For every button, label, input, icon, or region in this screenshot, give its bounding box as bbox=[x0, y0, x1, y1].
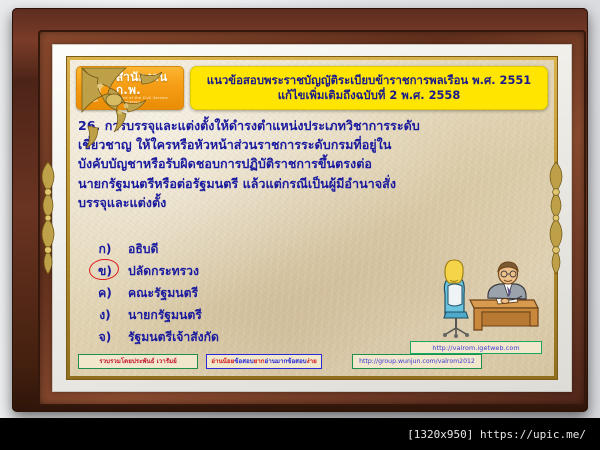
slogan-part-3: ยาก bbox=[254, 356, 265, 366]
image-host-watermark: [1320x950] https://upic.me/ bbox=[0, 418, 600, 450]
header: สำนักงาน ก.พ. Office of the Civil Servic… bbox=[76, 66, 548, 110]
picture-frame-outer: สำนักงาน ก.พ. Office of the Civil Servic… bbox=[12, 8, 588, 412]
choice-key: จ) bbox=[92, 328, 118, 347]
credit-badge: รวบรวมโดยประพันธ์ เวารัมย์ bbox=[78, 354, 198, 369]
title-line-2: แก้ไขเพิ่มเติมถึงฉบับที่ 2 พ.ศ. 2558 bbox=[278, 88, 461, 103]
question-text-block: 26. การบรรจุและแต่งตั้งให้ดำรงตำแหน่งประ… bbox=[78, 116, 544, 212]
choice-key: ข) bbox=[92, 262, 118, 281]
ocsc-logo: สำนักงาน ก.พ. Office of the Civil Servic… bbox=[76, 66, 184, 110]
choice-label: นายกรัฐมนตรี bbox=[128, 306, 202, 325]
group-url-text: http://group.wunjun.com/valrom2012 bbox=[359, 358, 475, 365]
parchment-content-area: สำนักงาน ก.พ. Office of the Civil Servic… bbox=[70, 60, 554, 376]
question-line: 26. การบรรจุและแต่งตั้งให้ดำรงตำแหน่งประ… bbox=[78, 116, 544, 135]
slogan-part-4: อ่านมาก bbox=[265, 356, 288, 366]
slogan-part-6: ง่าย bbox=[307, 356, 317, 366]
slogan-badge: อ่านน้อยข้อสอบยาก อ่านมากข้อสอบง่าย bbox=[206, 354, 322, 369]
site-url-text: http://valrom.igetweb.com bbox=[432, 344, 519, 352]
slogan-part-1: อ่านน้อย bbox=[211, 356, 234, 366]
choice-option-kho[interactable]: ข) ปลัดกระทรวง bbox=[92, 260, 392, 282]
slogan-part-2: ข้อสอบ bbox=[234, 356, 253, 366]
job-interview-cartoon-icon bbox=[392, 256, 542, 342]
slogan-part-5: ข้อสอบ bbox=[287, 356, 306, 366]
ocsc-emblem-icon bbox=[81, 71, 105, 105]
choice-key: ง) bbox=[92, 306, 118, 325]
choice-option-cho[interactable]: จ) รัฐมนตรีเจ้าสังกัด bbox=[92, 326, 392, 348]
choice-label: อธิบดี bbox=[128, 240, 158, 259]
logo-english-name: Office of the Civil Service Commission bbox=[116, 97, 184, 105]
title-line-1: แนวข้อสอบพระราชบัญญัติระเบียบข้าราชการพล… bbox=[207, 73, 531, 88]
logo-text-group: สำนักงาน ก.พ. Office of the Civil Servic… bbox=[116, 71, 184, 105]
question-line: บังคับบัญชาหรือรับผิดชอบการปฏิบัติราชการ… bbox=[78, 154, 544, 173]
question-line: นายกรัฐมนตรีหรือต่อรัฐมนตรี แล้วแต่กรณีเ… bbox=[78, 174, 544, 193]
choice-option-ngo[interactable]: ง) นายกรัฐมนตรี bbox=[92, 304, 392, 326]
logo-thai-name: สำนักงาน ก.พ. bbox=[116, 71, 184, 96]
choice-label: รัฐมนตรีเจ้าสังกัด bbox=[128, 328, 219, 347]
credit-text: รวบรวมโดยประพันธ์ เวารัมย์ bbox=[99, 356, 176, 366]
choice-key: ค) bbox=[92, 284, 118, 303]
group-url-badge[interactable]: http://group.wunjun.com/valrom2012 bbox=[352, 354, 482, 369]
logo-divider bbox=[110, 75, 111, 101]
choice-option-kho-khwai[interactable]: ค) คณะรัฐมนตรี bbox=[92, 282, 392, 304]
title-banner: แนวข้อสอบพระราชบัญญัติระเบียบข้าราชการพล… bbox=[190, 66, 548, 110]
question-line: เชี่ยวชาญ ให้ใครหรือหัวหน้าส่วนราชการระด… bbox=[78, 135, 544, 154]
choice-label: ปลัดกระทรวง bbox=[128, 262, 199, 281]
answer-choices-list: ก) อธิบดี ข) ปลัดกระทรวง ค) คณะรัฐมนตรี … bbox=[92, 238, 392, 348]
screenshot-root: สำนักงาน ก.พ. Office of the Civil Servic… bbox=[0, 0, 600, 450]
watermark-text: [1320x950] https://upic.me/ bbox=[407, 428, 586, 441]
question-line: บรรจุและแต่งตั้ง bbox=[78, 193, 544, 212]
choice-option-ka[interactable]: ก) อธิบดี bbox=[92, 238, 392, 260]
red-circle-annotation bbox=[88, 257, 120, 281]
choice-key: ก) bbox=[92, 240, 118, 259]
footer-bar: รวบรวมโดยประพันธ์ เวารัมย์ อ่านน้อยข้อสอ… bbox=[78, 352, 546, 370]
choice-label: คณะรัฐมนตรี bbox=[128, 284, 198, 303]
